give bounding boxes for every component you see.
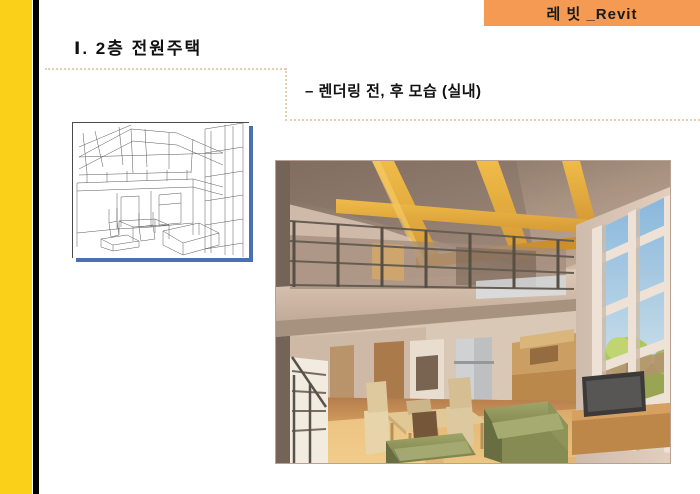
- page-title: Ⅰ. 2층 전원주택: [74, 34, 202, 59]
- dotted-rule-bottom: [285, 119, 700, 121]
- wireframe-sketch-image: [73, 123, 249, 258]
- slide-canvas: 레 빗 _Revit Ⅰ. 2층 전원주택 – 렌더링 전, 후 모습 (실내): [0, 0, 700, 494]
- dotted-rule-top: [45, 68, 286, 70]
- left-yellow-band: [0, 0, 32, 494]
- dotted-rule-vertical: [285, 68, 287, 121]
- subtitle: – 렌더링 전, 후 모습 (실내): [305, 80, 482, 101]
- left-black-band: [33, 0, 39, 494]
- rendered-interior-figure: [276, 161, 670, 463]
- header-bar: 레 빗 _Revit: [484, 0, 700, 26]
- wireframe-sketch-figure: [72, 122, 249, 258]
- rendered-interior-image: [276, 161, 670, 463]
- header-title: 레 빗 _Revit: [547, 3, 638, 24]
